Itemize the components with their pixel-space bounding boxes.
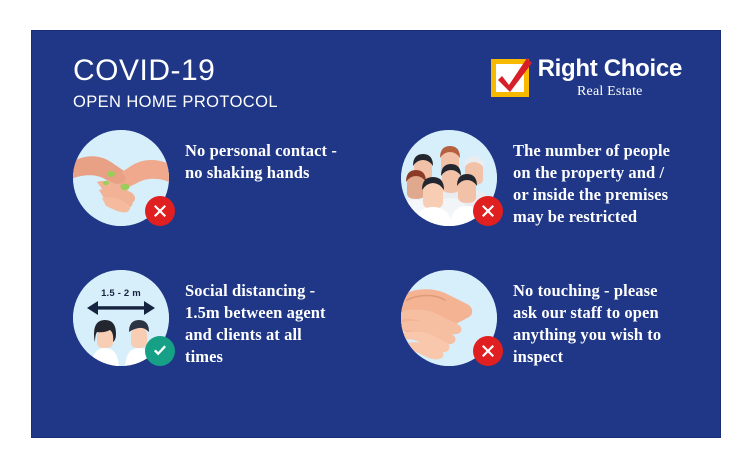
- protocol-text-line: on the property and /: [513, 162, 670, 184]
- logo-tagline: Real Estate: [538, 85, 682, 99]
- deny-badge-icon: [473, 196, 503, 226]
- protocol-text-line: may be restricted: [513, 206, 670, 228]
- social-distancing-icon-wrap: 1.5 - 2 m: [73, 270, 169, 366]
- protocol-text-line: No touching - please: [513, 280, 661, 302]
- open-hand-icon-wrap: [401, 270, 497, 366]
- logo-text: Right Choice Real Estate: [538, 57, 682, 99]
- protocol-item-text: No touching - please ask our staff to op…: [513, 280, 661, 368]
- protocol-item-no-personal-contact: No personal contact - no shaking hands: [32, 126, 376, 266]
- protocol-item-no-touching: No touching - please ask our staff to op…: [376, 266, 720, 406]
- deny-badge-icon: [145, 196, 175, 226]
- protocol-items-grid: No personal contact - no shaking hands: [32, 126, 720, 406]
- protocol-item-social-distancing: 1.5 - 2 m Social distancing - 1.5m betwe…: [32, 266, 376, 406]
- handshake-icon-wrap: [73, 130, 169, 226]
- protocol-text-line: and clients at all: [185, 324, 326, 346]
- covid-protocol-poster: COVID-19 OPEN HOME PROTOCOL Right Choice…: [0, 0, 750, 469]
- protocol-text-line: ask our staff to open: [513, 302, 661, 324]
- crowd-icon-wrap: [401, 130, 497, 226]
- protocol-text-line: No personal contact -: [185, 140, 337, 162]
- allow-badge-icon: [145, 336, 175, 366]
- page-title: COVID-19: [73, 55, 278, 87]
- deny-badge-icon: [473, 336, 503, 366]
- protocol-text-line: anything you wish to: [513, 324, 661, 346]
- checkmark-logo-icon: [491, 59, 529, 97]
- logo-company-name: Right Choice: [538, 57, 682, 81]
- distance-label: 1.5 - 2 m: [73, 288, 169, 299]
- protocol-text-line: The number of people: [513, 140, 670, 162]
- protocol-text-line: inspect: [513, 346, 661, 368]
- protocol-text-line: 1.5m between agent: [185, 302, 326, 324]
- protocol-item-text: Social distancing - 1.5m between agent a…: [185, 280, 326, 368]
- protocol-item-text: The number of people on the property and…: [513, 140, 670, 228]
- title-block: COVID-19 OPEN HOME PROTOCOL: [73, 55, 278, 112]
- poster-header: COVID-19 OPEN HOME PROTOCOL Right Choice…: [32, 31, 720, 123]
- protocol-text-line: times: [185, 346, 326, 368]
- brand-logo: Right Choice Real Estate: [491, 57, 682, 99]
- protocol-item-people-limit: The number of people on the property and…: [376, 126, 720, 266]
- protocol-item-text: No personal contact - no shaking hands: [185, 140, 337, 184]
- page-subtitle: OPEN HOME PROTOCOL: [73, 93, 278, 112]
- protocol-text-line: Social distancing -: [185, 280, 326, 302]
- protocol-text-line: or inside the premises: [513, 184, 670, 206]
- poster-panel: COVID-19 OPEN HOME PROTOCOL Right Choice…: [32, 31, 720, 437]
- protocol-text-line: no shaking hands: [185, 162, 337, 184]
